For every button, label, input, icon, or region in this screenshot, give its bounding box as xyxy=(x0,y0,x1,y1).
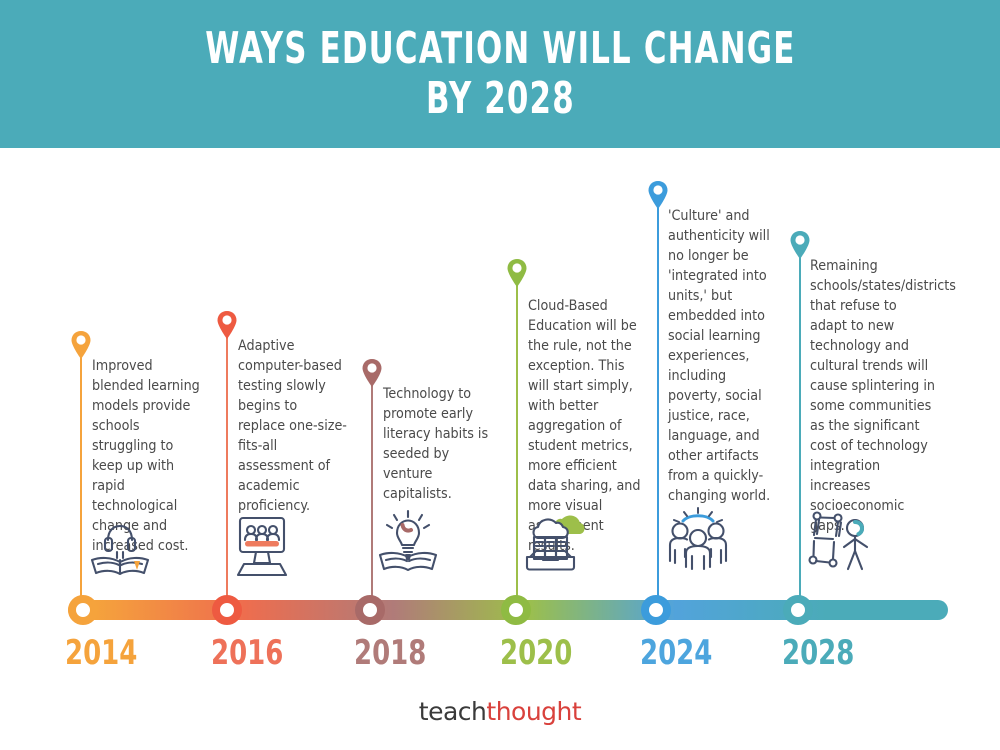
timeline-node-2028[interactable] xyxy=(783,595,813,625)
lightbulb-book-icon xyxy=(372,505,444,577)
timeline-stage: Improved blended learning models provide… xyxy=(0,148,1000,750)
pin-marker-2024 xyxy=(647,180,669,210)
timeline-node-2018[interactable] xyxy=(355,595,385,625)
year-label-2028: 2028 xyxy=(782,633,854,673)
pin-marker-2028 xyxy=(789,230,811,260)
timeline-node-2024[interactable] xyxy=(641,595,671,625)
year-label-2020: 2020 xyxy=(500,633,572,673)
cloud-files-icon xyxy=(518,505,590,577)
logo-text-thought: thought xyxy=(486,697,581,726)
milestone-text-2016: Adaptive computer-based testing slowly b… xyxy=(238,336,348,516)
group-people-icon xyxy=(662,505,734,577)
pin-marker-2018 xyxy=(361,358,383,388)
year-label-2024: 2024 xyxy=(640,633,712,673)
page-title-line2: BY 2028 xyxy=(426,74,575,124)
milestone-text-2024: 'Culture' and authenticity will no longe… xyxy=(668,206,780,506)
milestone-text-2018: Technology to promote early literacy hab… xyxy=(383,384,501,504)
timeline-node-2020[interactable] xyxy=(501,595,531,625)
connector-line-2014 xyxy=(80,348,82,610)
pin-marker-2016 xyxy=(216,310,238,340)
molecule-person-icon xyxy=(805,505,877,577)
pin-marker-2014 xyxy=(70,330,92,360)
year-label-2018: 2018 xyxy=(354,633,426,673)
timeline-node-2014[interactable] xyxy=(68,595,98,625)
monitor-people-icon xyxy=(226,510,298,582)
year-label-2016: 2016 xyxy=(211,633,283,673)
headphones-book-icon xyxy=(84,510,156,582)
timeline-node-2016[interactable] xyxy=(212,595,242,625)
logo-text-teach: teach xyxy=(419,697,487,726)
milestone-text-2028: Remaining schools/states/districts that … xyxy=(810,256,935,536)
page-title-line1: WAYS EDUCATION WILL CHANGE xyxy=(205,24,795,74)
connector-line-2028 xyxy=(799,236,801,610)
year-label-2014: 2014 xyxy=(65,633,137,673)
header-banner: WAYS EDUCATION WILL CHANGE BY 2028 xyxy=(0,0,1000,148)
pin-marker-2020 xyxy=(506,258,528,288)
teachthought-logo[interactable]: teachthought xyxy=(0,697,1000,726)
connector-line-2024 xyxy=(657,186,659,610)
